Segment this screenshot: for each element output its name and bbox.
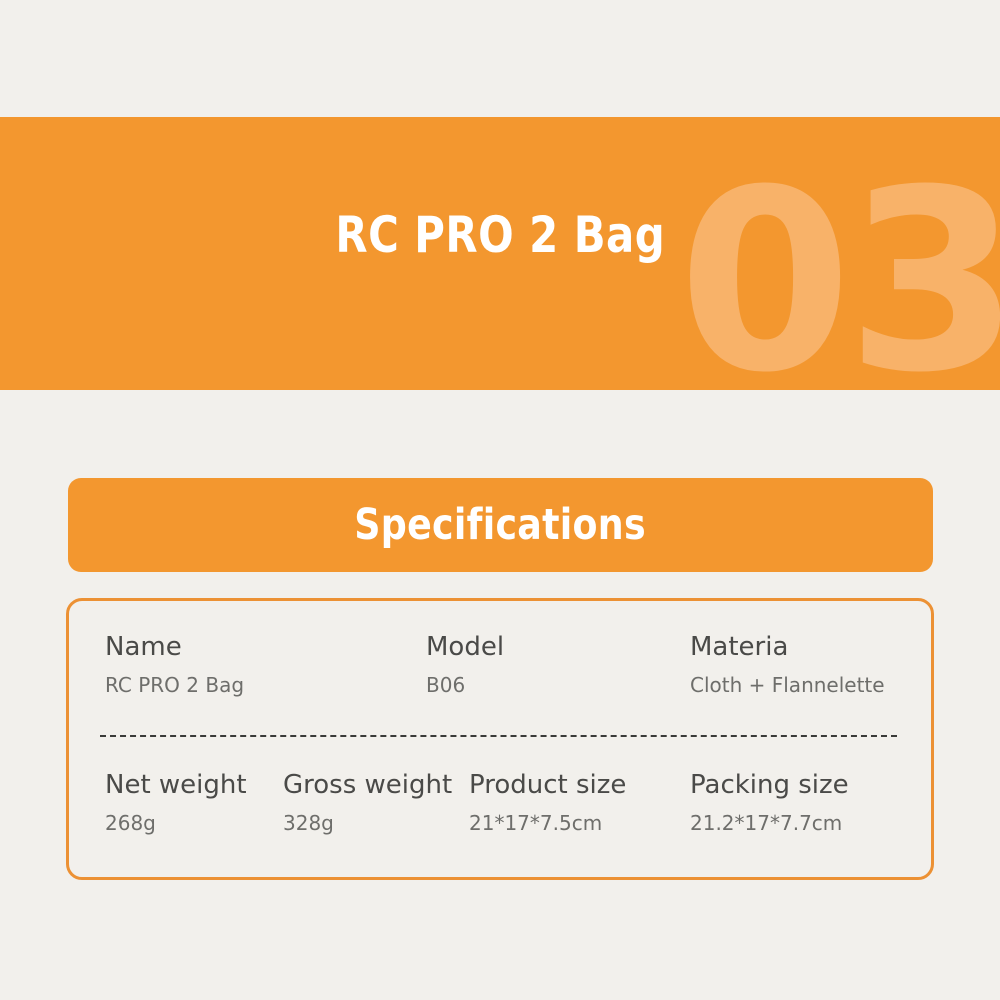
spec-cell-packing-size: Packing size 21.2*17*7.7cm	[690, 769, 849, 836]
spec-label-packing-size: Packing size	[690, 769, 849, 801]
spec-cell-net-weight: Net weight 268g	[105, 769, 247, 836]
spec-value-net-weight: 268g	[105, 810, 247, 836]
spec-value-materia: Cloth + Flannelette	[690, 672, 885, 698]
specifications-header-label: Specifications	[355, 500, 647, 550]
specifications-header-bar: Specifications	[68, 478, 933, 572]
spec-value-name: RC PRO 2 Bag	[105, 672, 244, 698]
hero-banner: 03 RC PRO 2 Bag	[0, 117, 1000, 390]
spec-value-gross-weight: 328g	[283, 810, 452, 836]
spec-label-product-size: Product size	[469, 769, 626, 801]
hero-title-container: RC PRO 2 Bag	[0, 117, 1000, 390]
spec-label-name: Name	[105, 631, 244, 663]
specifications-rows: Name RC PRO 2 Bag Model B06 Materia Clot…	[69, 601, 931, 877]
specifications-card: Name RC PRO 2 Bag Model B06 Materia Clot…	[66, 598, 934, 880]
spec-label-model: Model	[426, 631, 504, 663]
spec-cell-product-size: Product size 21*17*7.5cm	[469, 769, 626, 836]
spec-cell-gross-weight: Gross weight 328g	[283, 769, 452, 836]
spec-value-packing-size: 21.2*17*7.7cm	[690, 810, 849, 836]
spec-cell-model: Model B06	[426, 631, 504, 698]
spec-cell-name: Name RC PRO 2 Bag	[105, 631, 244, 698]
product-spec-page: 03 RC PRO 2 Bag Specifications Name RC P…	[0, 0, 1000, 1000]
product-title: RC PRO 2 Bag	[335, 206, 665, 264]
spec-value-model: B06	[426, 672, 504, 698]
spec-label-net-weight: Net weight	[105, 769, 247, 801]
spec-cell-materia: Materia Cloth + Flannelette	[690, 631, 885, 698]
spec-label-gross-weight: Gross weight	[283, 769, 452, 801]
spec-value-product-size: 21*17*7.5cm	[469, 810, 626, 836]
spec-label-materia: Materia	[690, 631, 885, 663]
spec-row-divider	[100, 735, 897, 737]
